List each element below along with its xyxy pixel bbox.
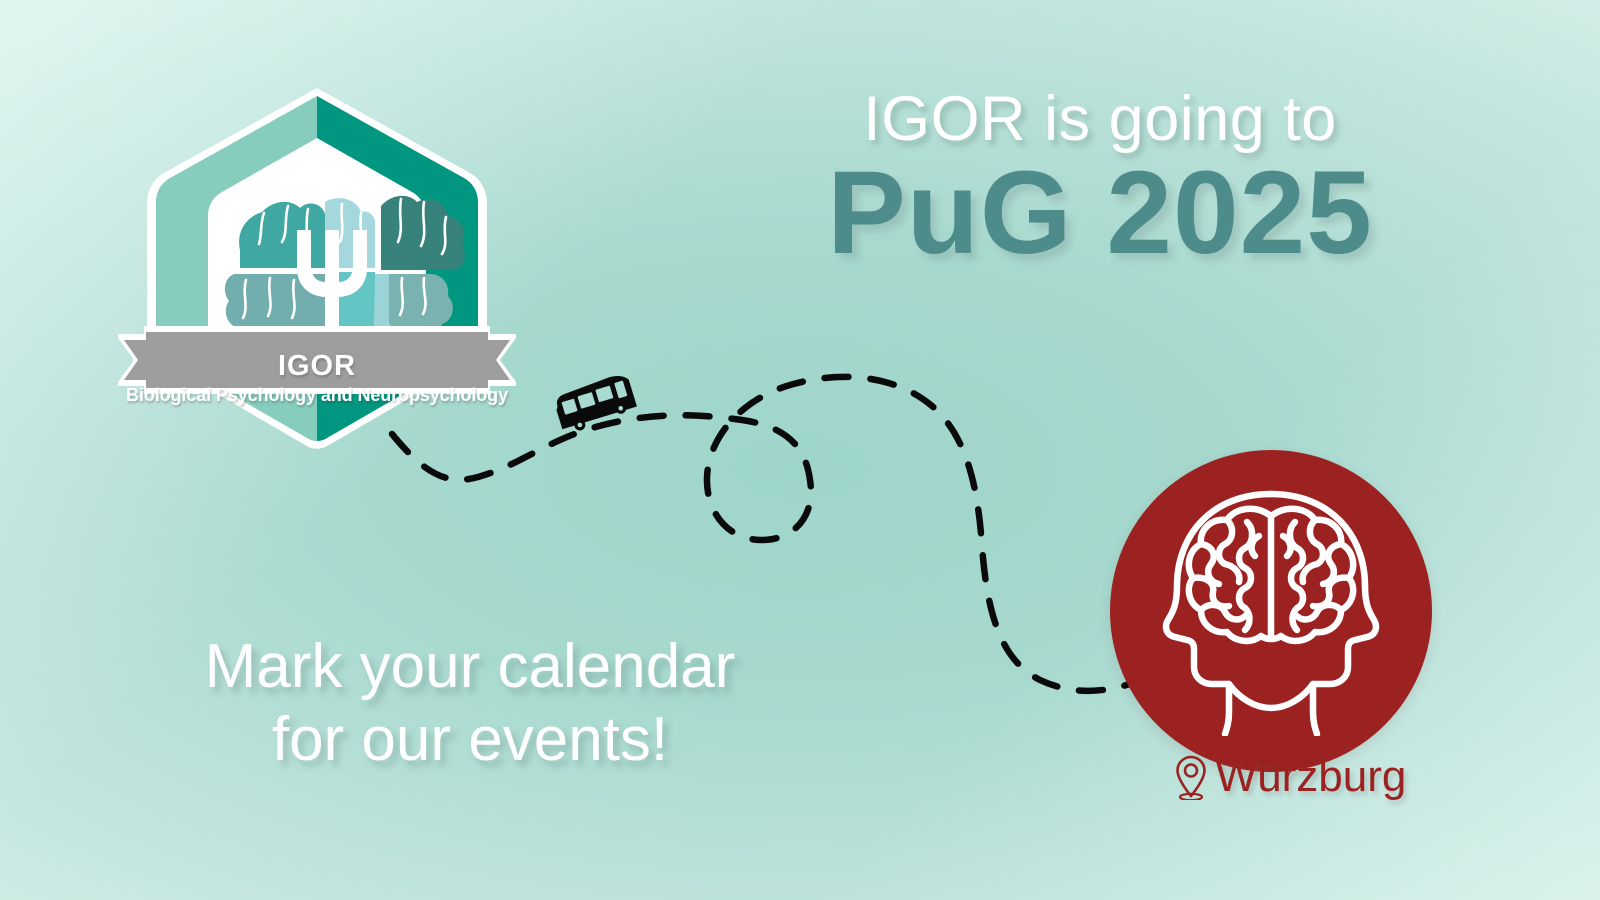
- location-pin-icon: [1174, 754, 1208, 800]
- ribbon-banner: [118, 326, 516, 394]
- igor-logo: IGOR Biological Psychology and Neuropsyc…: [112, 82, 522, 462]
- tagline-block: Mark your calendar for our events!: [150, 630, 790, 776]
- tagline-line-2: for our events!: [150, 703, 790, 776]
- destination-label: Würzburg: [1130, 752, 1450, 802]
- tagline-line-1: Mark your calendar: [150, 630, 790, 703]
- destination-badge: [1110, 450, 1432, 772]
- headline-block: IGOR is going to PuG 2025: [760, 88, 1440, 273]
- poster-canvas: IGOR Biological Psychology and Neuropsyc…: [0, 0, 1600, 900]
- head-with-brain-icon: [1151, 486, 1391, 736]
- headline-line-1: IGOR is going to: [760, 88, 1440, 151]
- headline-line-2: PuG 2025: [760, 153, 1440, 273]
- destination-city-name: Würzburg: [1216, 752, 1407, 802]
